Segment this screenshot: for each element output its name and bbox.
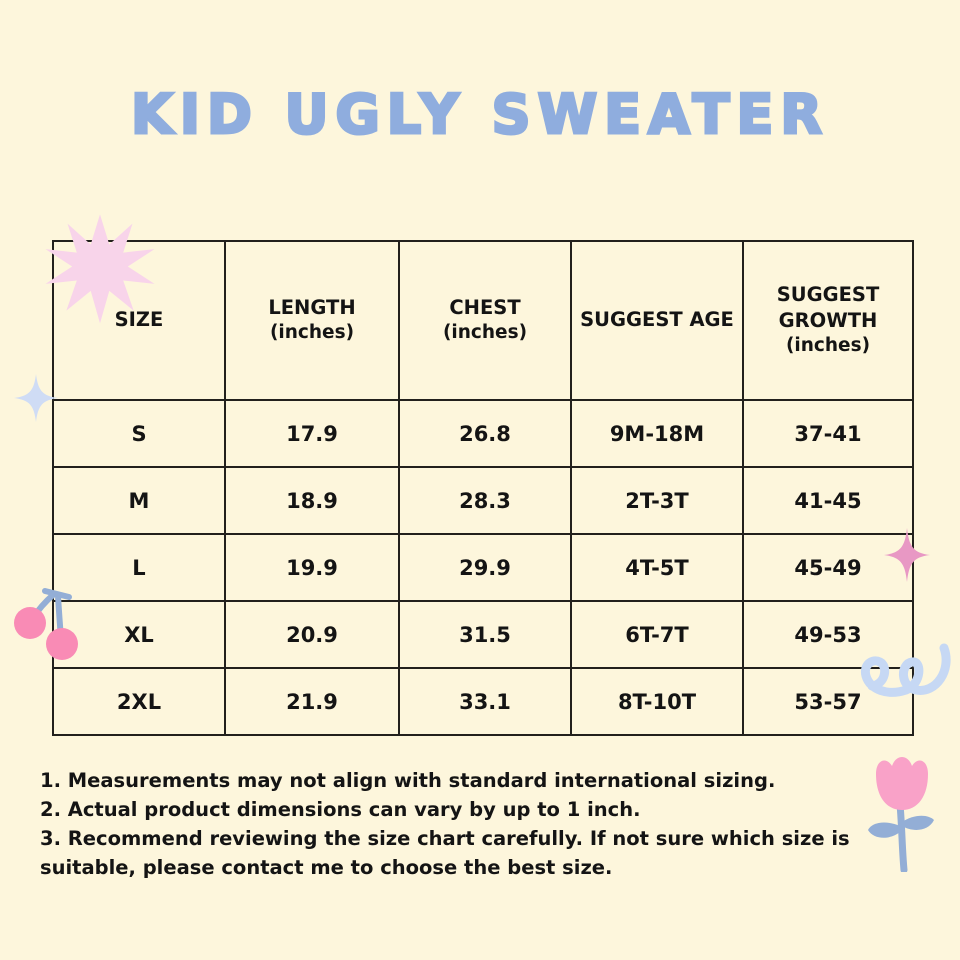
note-item-2: 2. Actual product dimensions can vary by… [40, 795, 900, 824]
cell-length: 17.9 [225, 400, 399, 467]
cell-chest: 31.5 [399, 601, 571, 668]
cell-chest: 28.3 [399, 467, 571, 534]
table-row: XL 20.9 31.5 6T-7T 49-53 [53, 601, 913, 668]
column-header-size-label: SIZE [115, 308, 164, 331]
size-chart-table: SIZE LENGTH (inches) CHEST (inches) SUGG… [52, 240, 914, 736]
cell-chest: 26.8 [399, 400, 571, 467]
page-header: KID UGLY SWEATER [0, 88, 960, 142]
column-header-length-label: LENGTH [268, 296, 355, 319]
table-row: S 17.9 26.8 9M-18M 37-41 [53, 400, 913, 467]
cell-suggest-age: 4T-5T [571, 534, 743, 601]
table-body: S 17.9 26.8 9M-18M 37-41 M 18.9 28.3 2T-… [53, 400, 913, 735]
cell-length: 18.9 [225, 467, 399, 534]
cell-suggest-age: 2T-3T [571, 467, 743, 534]
cell-suggest-age: 9M-18M [571, 400, 743, 467]
column-header-suggest-growth-unit: (inches) [744, 334, 912, 359]
cell-chest: 33.1 [399, 668, 571, 735]
column-header-length-unit: (inches) [226, 321, 398, 346]
cell-length: 20.9 [225, 601, 399, 668]
column-header-suggest-age-label: SUGGEST AGE [580, 308, 734, 331]
table-row: L 19.9 29.9 4T-5T 45-49 [53, 534, 913, 601]
column-header-suggest-growth: SUGGEST GROWTH (inches) [743, 241, 913, 400]
column-header-suggest-age: SUGGEST AGE [571, 241, 743, 400]
cell-length: 21.9 [225, 668, 399, 735]
cell-suggest-age: 6T-7T [571, 601, 743, 668]
table-header-row: SIZE LENGTH (inches) CHEST (inches) SUGG… [53, 241, 913, 400]
cell-size: XL [53, 601, 225, 668]
cell-suggest-age: 8T-10T [571, 668, 743, 735]
cell-size: L [53, 534, 225, 601]
column-header-size: SIZE [53, 241, 225, 400]
note-item-1: 1. Measurements may not align with stand… [40, 766, 900, 795]
cell-size: S [53, 400, 225, 467]
table-row: M 18.9 28.3 2T-3T 41-45 [53, 467, 913, 534]
cell-suggest-growth: 53-57 [743, 668, 913, 735]
cell-size: M [53, 467, 225, 534]
cell-length: 19.9 [225, 534, 399, 601]
cell-size: 2XL [53, 668, 225, 735]
cell-suggest-growth: 45-49 [743, 534, 913, 601]
cell-suggest-growth: 49-53 [743, 601, 913, 668]
column-header-chest: CHEST (inches) [399, 241, 571, 400]
cell-suggest-growth: 37-41 [743, 400, 913, 467]
column-header-length: LENGTH (inches) [225, 241, 399, 400]
cell-suggest-growth: 41-45 [743, 467, 913, 534]
column-header-chest-unit: (inches) [400, 321, 570, 346]
cell-chest: 29.9 [399, 534, 571, 601]
column-header-chest-label: CHEST [449, 296, 520, 319]
page-title: KID UGLY SWEATER [0, 88, 960, 142]
notes-list: 1. Measurements may not align with stand… [40, 766, 900, 882]
column-header-suggest-growth-label: SUGGEST GROWTH [777, 283, 880, 332]
note-item-3: 3. Recommend reviewing the size chart ca… [40, 824, 900, 882]
table-row: 2XL 21.9 33.1 8T-10T 53-57 [53, 668, 913, 735]
table-header-row-group: SIZE LENGTH (inches) CHEST (inches) SUGG… [53, 241, 913, 400]
